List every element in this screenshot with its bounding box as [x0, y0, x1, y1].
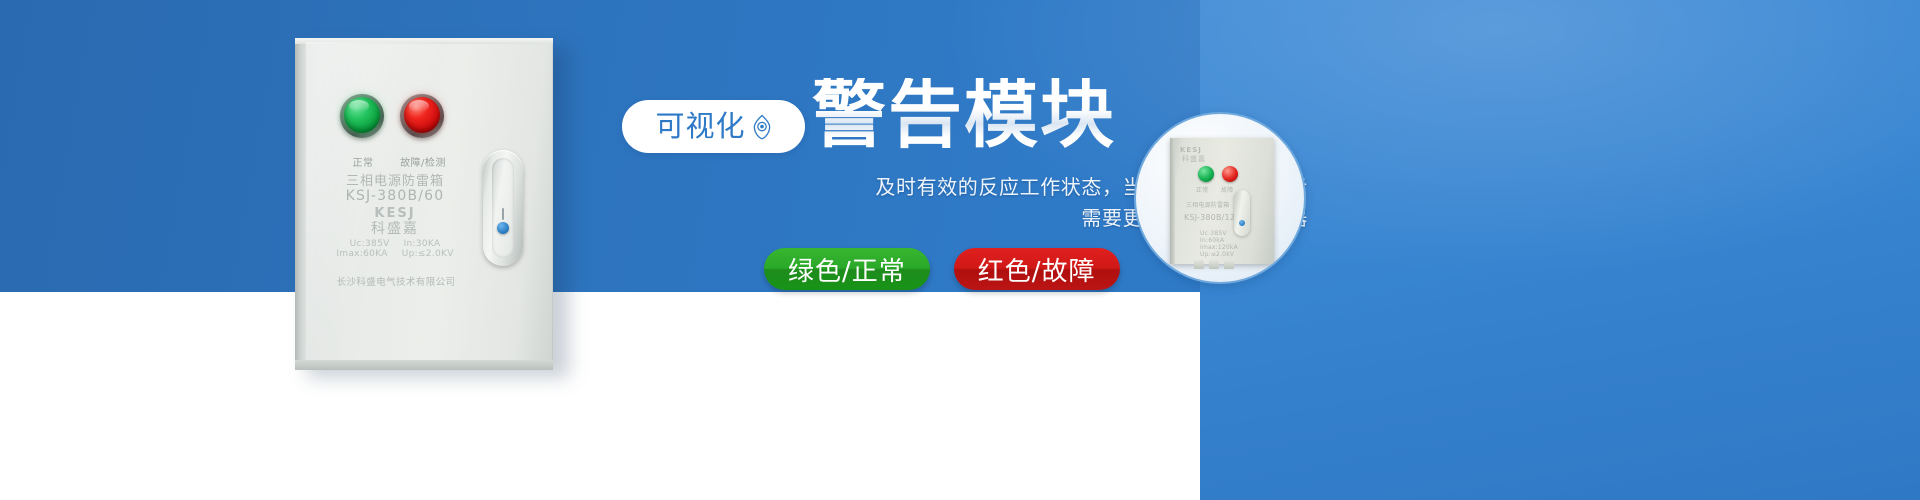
lamp-gloss: [409, 100, 429, 112]
inset-print-model-cn: 三相电源防雷箱: [1170, 200, 1274, 209]
inset-lamp-red: [1222, 166, 1238, 182]
visualization-pill-label: 可视化: [655, 112, 745, 141]
spec-uc: Uc:385V: [350, 239, 390, 249]
lamp-gloss: [349, 100, 369, 112]
handle-lock-dot-icon: [497, 222, 509, 234]
handle-tick: [502, 208, 504, 220]
panel-print-model-number: KSJ-380B/60: [300, 188, 490, 204]
spec-up: Up:≤2.0KV: [402, 249, 454, 259]
panel-spec-row-1: Uc:385V In:30KA: [300, 239, 490, 249]
page-title: 警告模块: [812, 78, 1116, 152]
visualization-pill: 可视化: [622, 100, 805, 153]
panel-spec-row-2: Imax:60KA Up:≤2.0KV: [300, 249, 490, 259]
indicator-lamp-green: [340, 94, 384, 138]
inset-brand-cn: 科盛嘉: [1182, 154, 1206, 164]
inset-print-model-number: KSJ-380B/120: [1170, 213, 1274, 222]
spec-in: In:30KA: [404, 239, 441, 249]
banner-stage: 正常 故障/检测 三相电源防雷箱 KSJ-380B/60 KESJ 科盛嘉 Uc…: [0, 0, 1920, 500]
inset-lamp-label-fault: 故障: [1170, 185, 1274, 194]
inset-cable-glands: [1194, 260, 1234, 269]
inset-spec-in: In:60kA: [1170, 237, 1274, 244]
product-left-edge: [295, 38, 306, 370]
inset-cable-gland: [1209, 260, 1219, 269]
inset-door-handle: [1234, 190, 1250, 236]
product-bottom-bevel: [295, 360, 553, 370]
panel-print-brand-cn: 科盛嘉: [300, 218, 490, 238]
inset-lamp-green: [1198, 166, 1214, 182]
inset-spec-up: Up:≤2.0kV: [1170, 251, 1274, 258]
eye-marker-icon: [752, 114, 772, 140]
inset-brand-en: KESJ: [1180, 146, 1202, 154]
inset-cable-gland: [1194, 260, 1204, 269]
product-inset-circle: KESJ 科盛嘉 正常 故障 三相电源防雷箱 KSJ-380B/120 Uc:3…: [1134, 112, 1306, 284]
inset-enclosure: KESJ 科盛嘉 正常 故障 三相电源防雷箱 KSJ-380B/120 Uc:3…: [1170, 138, 1274, 264]
door-handle: [483, 150, 523, 266]
indicator-lamp-red: [400, 94, 444, 138]
product-top-bevel: [295, 38, 553, 44]
lamp-label-fault: 故障/检测: [380, 154, 466, 169]
panel-print-model-cn: 三相电源防雷箱: [300, 170, 490, 189]
inset-handle-lock-dot-icon: [1239, 220, 1245, 226]
inset-spec-imax: Imax:120kA: [1170, 244, 1274, 251]
badge-red-fault[interactable]: 红色/故障: [954, 248, 1120, 290]
inset-spec-uc: Uc:385V: [1170, 230, 1274, 237]
inset-cable-gland: [1224, 260, 1234, 269]
badge-green-normal[interactable]: 绿色/正常: [764, 248, 930, 290]
status-badges: 绿色/正常 红色/故障: [764, 248, 1120, 290]
spec-imax: Imax:60KA: [336, 249, 387, 259]
panel-print-company: 长沙科盛电气技术有限公司: [296, 274, 496, 288]
